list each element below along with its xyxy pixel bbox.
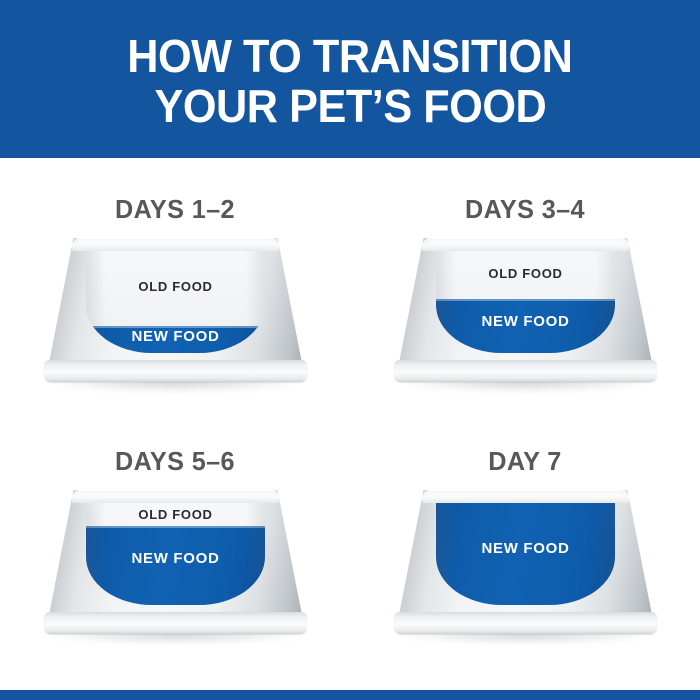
footer-blue-strip <box>0 690 700 700</box>
step-panel-days-3-4: DAYS 3–4 OLD FOOD NEW FOOD <box>350 178 700 440</box>
new-food-label: NEW FOOD <box>86 328 265 345</box>
step-title: DAYS 5–6 <box>5 446 345 477</box>
old-food-label: OLD FOOD <box>86 507 265 522</box>
header-title-line-2: YOUR PET’S FOOD <box>154 81 546 131</box>
step-title: DAYS 3–4 <box>355 194 695 225</box>
new-food-label: NEW FOOD <box>436 313 615 330</box>
food-bowl: OLD FOOD NEW FOOD <box>398 490 653 640</box>
old-food-label: OLD FOOD <box>86 279 265 294</box>
step-panel-days-5-6: DAYS 5–6 OLD FOOD NEW FOOD <box>0 430 350 692</box>
food-bowl: OLD FOOD NEW FOOD <box>48 490 303 640</box>
food-bowl: OLD FOOD NEW FOOD <box>398 238 653 388</box>
bowl-rim <box>422 490 629 503</box>
food-bowl: OLD FOOD NEW FOOD <box>48 238 303 388</box>
step-panel-days-1-2: DAYS 1–2 OLD FOOD NEW FOOD <box>0 178 350 440</box>
bowl-rim <box>422 238 629 251</box>
bowl-rim <box>72 490 279 503</box>
bowl-base-foot <box>394 360 657 382</box>
bowl-base-foot <box>394 612 657 634</box>
step-panel-day-7: DAY 7 OLD FOOD NEW FOOD <box>350 430 700 692</box>
bowl-base-foot <box>44 612 307 634</box>
bowl-cavity: OLD FOOD NEW FOOD <box>86 501 265 605</box>
old-food-label: OLD FOOD <box>436 266 615 281</box>
header-title-line-1: HOW TO TRANSITION <box>127 31 572 81</box>
steps-grid: DAYS 1–2 OLD FOOD NEW FOOD DAYS 3–4 <box>0 158 700 690</box>
bowl-cavity: OLD FOOD NEW FOOD <box>436 501 615 605</box>
bowl-cavity: OLD FOOD NEW FOOD <box>436 249 615 353</box>
infographic-page: HOW TO TRANSITION YOUR PET’S FOOD DAYS 1… <box>0 0 700 700</box>
new-food-label: NEW FOOD <box>86 550 265 567</box>
step-title: DAY 7 <box>355 446 695 477</box>
new-food-label: NEW FOOD <box>436 540 615 557</box>
bowl-cavity: OLD FOOD NEW FOOD <box>86 249 265 353</box>
step-title: DAYS 1–2 <box>5 194 345 225</box>
bowl-base-foot <box>44 360 307 382</box>
header-banner: HOW TO TRANSITION YOUR PET’S FOOD <box>0 0 700 158</box>
bowl-rim <box>72 238 279 251</box>
